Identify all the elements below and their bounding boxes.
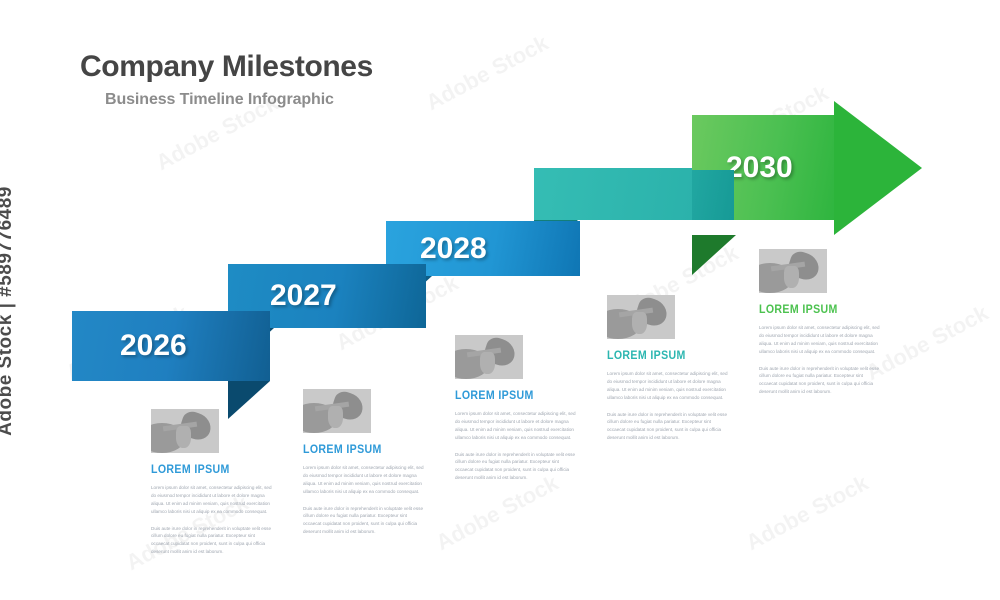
milestone-heading-2027: LOREM IPSUM	[303, 444, 415, 456]
milestone-content-2030: LOREM IPSUM Lorem ipsum dolor sit amet, …	[759, 249, 881, 405]
milestone-paragraph-2-2028: Duis aute irure dolor in reprehenderit i…	[455, 451, 577, 483]
milestone-paragraph-2-2027: Duis aute irure dolor in reprehenderit i…	[303, 505, 425, 537]
milestone-paragraph-2-2029: Duis aute irure dolor in reprehenderit i…	[607, 411, 729, 443]
milestone-thumbnail-2027	[303, 389, 371, 433]
milestone-paragraph-2-2026: Duis aute irure dolor in reprehenderit i…	[151, 525, 273, 557]
milestone-paragraph-1-2029: Lorem ipsum dolor sit amet, consectetur …	[607, 370, 729, 402]
ribbon-fold-2030	[692, 235, 736, 275]
milestone-band-2026[interactable]: 2026	[72, 311, 270, 381]
page-title: Company Milestones	[80, 50, 373, 83]
milestone-paragraph-1-2027: Lorem ipsum dolor sit amet, consectetur …	[303, 464, 425, 496]
milestone-thumbnail-2028	[455, 335, 523, 379]
infographic-canvas: Adobe Stock Adobe Stock Adobe Stock Adob…	[0, 0, 1000, 600]
milestone-paragraph-2-2030: Duis aute irure dolor in reprehenderit i…	[759, 365, 881, 397]
header-block: Company Milestones Business Timeline Inf…	[80, 50, 373, 109]
milestone-content-2029: LOREM IPSUM Lorem ipsum dolor sit amet, …	[607, 295, 729, 451]
milestone-year-2027: 2027	[270, 279, 337, 313]
watermark-tile: Adobe Stock	[422, 30, 553, 116]
milestone-year-2028: 2028	[420, 232, 487, 266]
adobe-stock-watermark: Adobe Stock | #589776489	[0, 186, 17, 436]
watermark-tile: Adobe Stock	[862, 300, 993, 386]
milestone-heading-2029: LOREM IPSUM	[607, 350, 719, 362]
milestone-paragraph-1-2026: Lorem ipsum dolor sit amet, consectetur …	[151, 484, 273, 516]
arrow-head-2030	[834, 101, 922, 235]
milestone-thumbnail-2029	[607, 295, 675, 339]
milestone-band-2029-label: 2029	[534, 168, 734, 220]
milestone-thumbnail-2026	[151, 409, 219, 453]
milestone-thumbnail-2030	[759, 249, 827, 293]
milestone-heading-2026: LOREM IPSUM	[151, 464, 263, 476]
milestone-year-2026: 2026	[120, 329, 187, 363]
milestone-content-2028: LOREM IPSUM Lorem ipsum dolor sit amet, …	[455, 335, 577, 491]
milestone-content-2026: LOREM IPSUM Lorem ipsum dolor sit amet, …	[151, 409, 273, 565]
milestone-year-2030: 2030	[726, 151, 793, 185]
milestone-paragraph-1-2028: Lorem ipsum dolor sit amet, consectetur …	[455, 410, 577, 442]
milestone-heading-2030: LOREM IPSUM	[759, 304, 871, 316]
milestone-content-2027: LOREM IPSUM Lorem ipsum dolor sit amet, …	[303, 389, 425, 545]
watermark-tile: Adobe Stock	[742, 470, 873, 556]
page-subtitle: Business Timeline Infographic	[105, 91, 373, 109]
milestone-heading-2028: LOREM IPSUM	[455, 390, 567, 402]
milestone-paragraph-1-2030: Lorem ipsum dolor sit amet, consectetur …	[759, 324, 881, 356]
